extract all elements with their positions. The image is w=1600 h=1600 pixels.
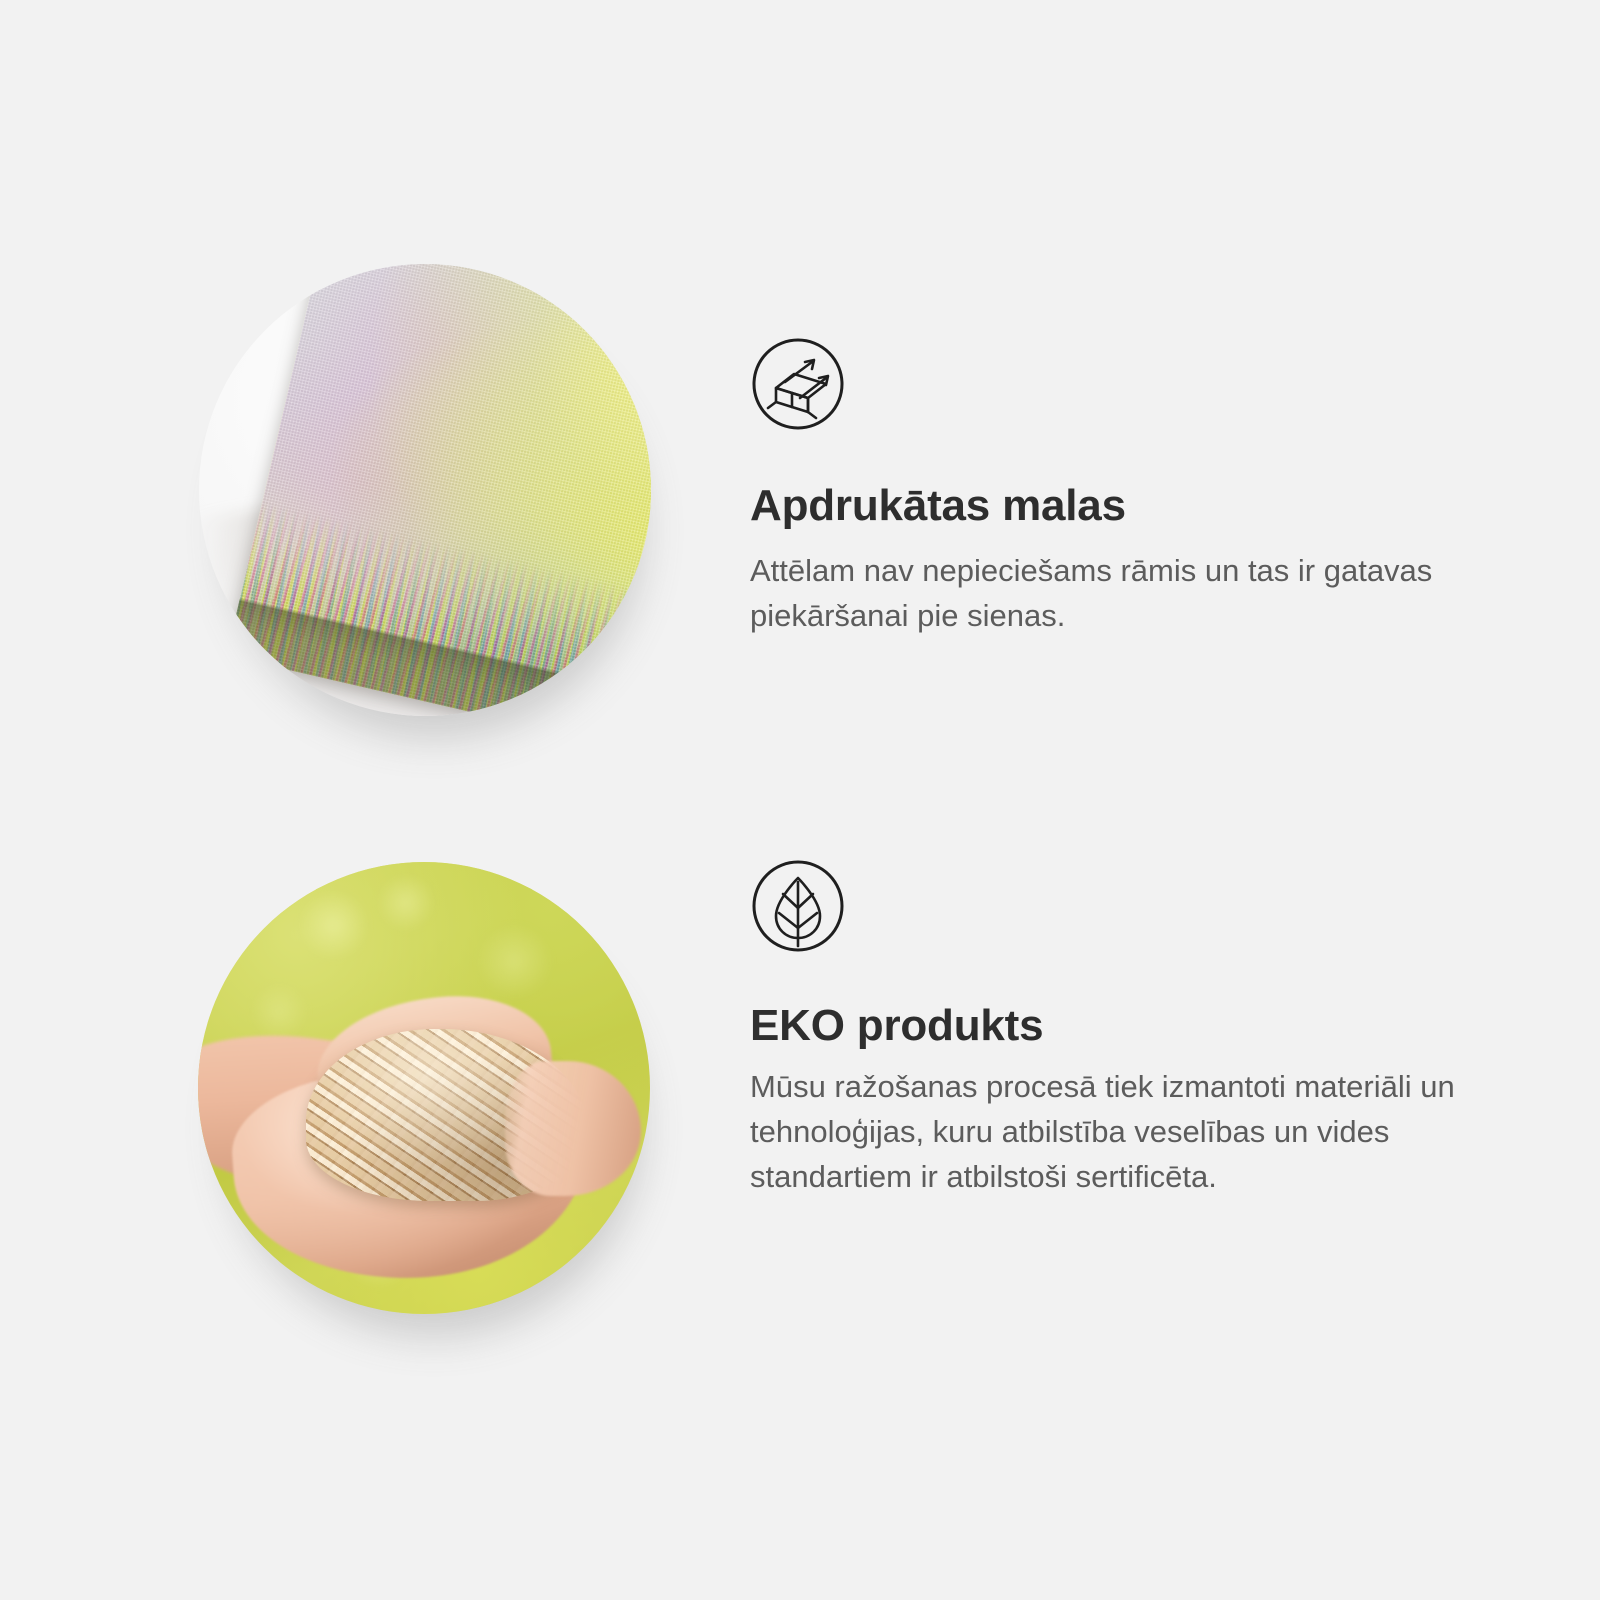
feature-description-eco-product: Mūsu ražošanas procesā tiek izmantoti ma…: [750, 1064, 1470, 1199]
feature-title-printed-edges: Apdrukātas malas: [750, 482, 1490, 530]
printed-edges-icon: [750, 336, 846, 432]
photo-circle-mask: [199, 264, 651, 716]
eco-wood-chips-photo: [198, 862, 650, 1314]
photo-circle-mask: [198, 862, 650, 1314]
leaf-icon: [750, 858, 846, 954]
feature-title-eco-product: EKO produkts: [750, 1002, 1490, 1050]
feature-block-printed-edges: Apdrukātas malas Attēlam nav nepieciešam…: [0, 0, 1600, 800]
feature-text-eco-product: EKO produkts Mūsu ražošanas procesā tiek…: [750, 858, 1490, 1199]
feature-text-printed-edges: Apdrukātas malas Attēlam nav nepieciešam…: [750, 336, 1490, 638]
feature-description-printed-edges: Attēlam nav nepieciešams rāmis un tas ir…: [750, 548, 1470, 638]
feature-block-eco-product: EKO produkts Mūsu ražošanas procesā tiek…: [0, 800, 1600, 1600]
canvas-print-photo: [199, 264, 651, 716]
